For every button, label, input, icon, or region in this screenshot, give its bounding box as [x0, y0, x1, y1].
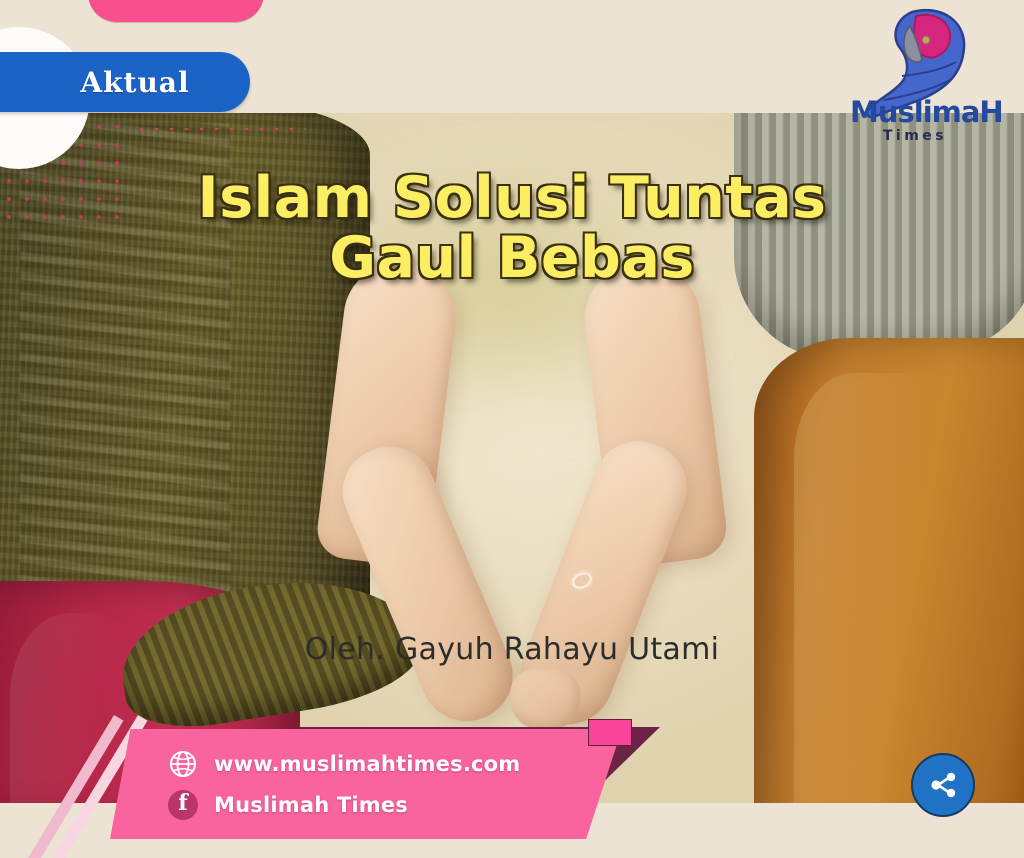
pink-pill-decoration — [88, 0, 264, 22]
footer-pink-square — [588, 719, 632, 746]
title-line-2: Gaul Bebas — [0, 228, 1024, 288]
logo-subtext: Times — [850, 128, 980, 144]
website-label: www.muslimahtimes.com — [214, 752, 520, 776]
poster-canvas: Aktual MuslimaH Times Islam Solusi Tunta… — [0, 0, 1024, 858]
logo-wordmark: MuslimaH — [850, 98, 980, 127]
right-skirt-highlight — [794, 373, 944, 803]
facebook-icon: f — [168, 790, 198, 820]
brand-logo[interactable]: MuslimaH Times — [850, 6, 980, 158]
footer-contact-banner: www.muslimahtimes.com f Muslimah Times — [110, 729, 622, 839]
category-badge-label: Aktual — [38, 66, 189, 99]
globe-icon — [168, 749, 198, 779]
share-button[interactable] — [911, 753, 975, 817]
facebook-label: Muslimah Times — [214, 793, 408, 817]
footer-facebook-row[interactable]: f Muslimah Times — [168, 784, 622, 825]
title-line-1: Islam Solusi Tuntas — [0, 168, 1024, 228]
category-badge-aktual[interactable]: Aktual — [0, 52, 250, 112]
poster-title: Islam Solusi Tuntas Gaul Bebas — [0, 168, 1024, 289]
footer-website-row[interactable]: www.muslimahtimes.com — [168, 743, 622, 784]
share-icon — [926, 768, 960, 802]
author-byline: Oleh. Gayuh Rahayu Utami — [0, 632, 1024, 667]
dot-row-decoration — [134, 125, 306, 133]
